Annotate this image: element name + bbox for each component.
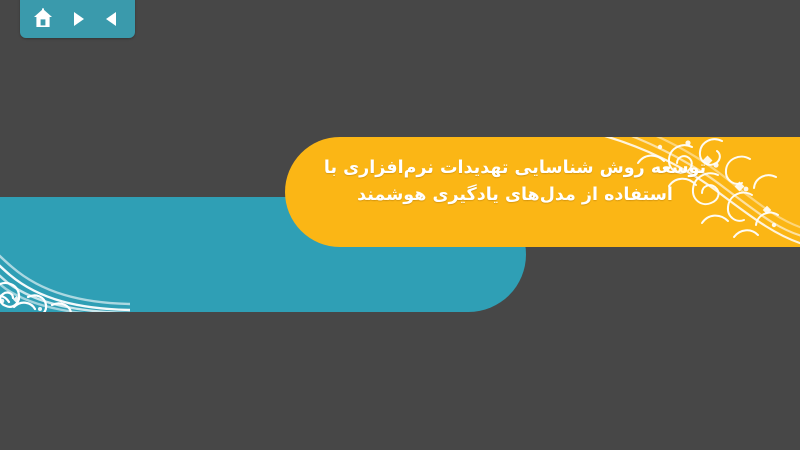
forward-button[interactable] <box>64 6 92 32</box>
back-icon <box>102 9 122 29</box>
slide-title-line-1: توسعه روش شناسایی تهدیدات نرم‌افزاری با <box>300 155 730 182</box>
home-button[interactable] <box>29 6 57 32</box>
forward-icon <box>68 9 88 29</box>
back-button[interactable] <box>98 6 126 32</box>
slide-canvas: توسعه روش شناسایی تهدیدات نرم‌افزاری با … <box>0 0 800 450</box>
slide-title: توسعه روش شناسایی تهدیدات نرم‌افزاری با … <box>300 155 730 209</box>
home-icon <box>32 8 54 30</box>
arabesque-ornament-bottom-left-icon <box>0 197 130 312</box>
slide-title-line-2: استفاده از مدل‌های یادگیری هوشمند <box>300 182 730 209</box>
navigation-bar[interactable] <box>20 0 135 38</box>
